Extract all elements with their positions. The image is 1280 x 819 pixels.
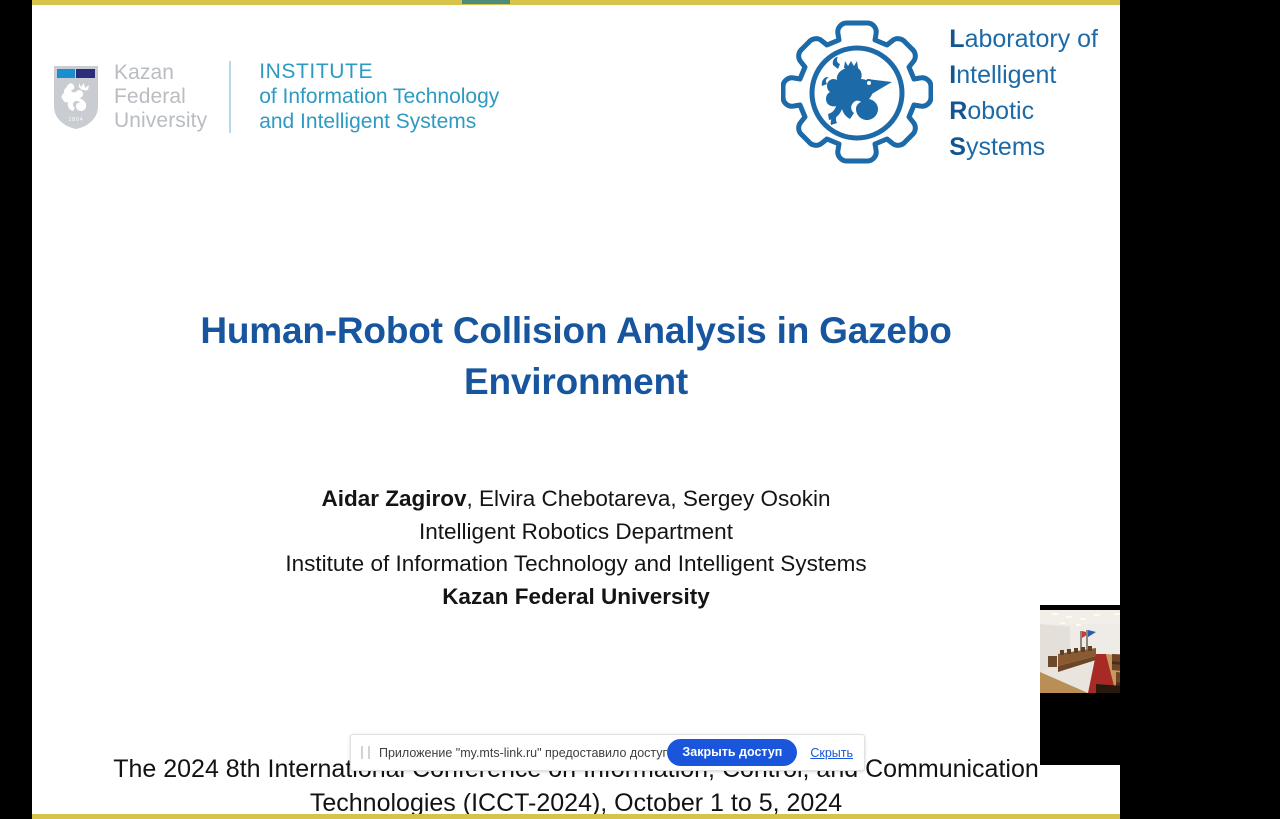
lirs-wordmark: Laboratory of Intelligent Robotic System…: [949, 21, 1098, 165]
itis-line-2: of Information Technology: [259, 85, 499, 108]
lirs-line-2: Intelligent: [949, 61, 1056, 89]
stop-sharing-button[interactable]: Закрыть доступ: [667, 739, 797, 766]
gear-dragon-icon: [781, 17, 933, 169]
screen-capture-border-bottom: [32, 814, 1120, 819]
lirs-line-4: Systems: [949, 133, 1045, 161]
svg-text:1804: 1804: [68, 117, 83, 123]
screen-share-notification-bar[interactable]: Приложение "my.mts-link.ru" предоставило…: [350, 734, 865, 771]
conference-hall-video-frame: [1040, 610, 1120, 693]
logo-divider: [229, 61, 231, 133]
slide-title-line-2: Environment: [102, 356, 1050, 407]
lead-author-name: Aidar Zagirov: [322, 486, 467, 511]
kazan-federal-university-logo: 1804 Kazan Federal University INSTITUTE …: [52, 60, 499, 134]
hide-notification-link[interactable]: Скрыть: [810, 746, 853, 760]
lirs-line-4-initial: S: [949, 133, 966, 161]
kfu-shield-icon: 1804: [52, 63, 100, 131]
itis-wordmark: INSTITUTE of Information Technology and …: [259, 60, 499, 134]
lirs-logo: Laboratory of Intelligent Robotic System…: [781, 17, 1098, 169]
lirs-line-4-rest: ystems: [966, 133, 1045, 161]
author-institute: Institute of Information Technology and …: [72, 548, 1080, 581]
slide-title: Human-Robot Collision Analysis in Gazebo…: [102, 305, 1050, 407]
conference-line-2: Technologies (ICCT-2024), October 1 to 5…: [62, 787, 1090, 815]
screen-share-toolbar-pill[interactable]: [462, 0, 510, 4]
itis-line-3: and Intelligent Systems: [259, 110, 476, 133]
slide-title-line-1: Human-Robot Collision Analysis in Gazebo: [102, 305, 1050, 356]
lirs-line-3-initial: R: [949, 97, 967, 125]
drag-handle-icon[interactable]: [361, 746, 370, 759]
kfu-word-line-3: University: [114, 109, 207, 132]
lirs-line-2-rest: ntelligent: [956, 61, 1056, 89]
screen-capture-border-top: [32, 0, 1120, 5]
kfu-wordmark: Kazan Federal University: [114, 61, 207, 134]
lirs-line-3-rest: obotic: [967, 97, 1034, 125]
author-department: Intelligent Robotics Department: [72, 516, 1080, 549]
screen-share-root: 1804 Kazan Federal University INSTITUTE …: [0, 0, 1280, 819]
share-notification-message: Приложение "my.mts-link.ru" предоставило…: [379, 746, 667, 760]
author-block: Aidar Zagirov, Elvira Chebotareva, Serge…: [72, 483, 1080, 614]
coauthor-names: , Elvira Chebotareva, Sergey Osokin: [467, 486, 831, 511]
itis-line-1: INSTITUTE: [259, 60, 373, 83]
participant-video-thumbnail[interactable]: [1040, 605, 1120, 765]
kfu-word-line-1: Kazan: [114, 61, 174, 84]
lirs-line-1-initial: L: [949, 25, 964, 53]
author-university: Kazan Federal University: [72, 581, 1080, 614]
lirs-line-3: Robotic: [949, 97, 1034, 125]
lirs-line-1: Laboratory of: [949, 25, 1098, 53]
letterbox-left: [0, 0, 32, 819]
lirs-line-1-rest: aboratory of: [965, 25, 1098, 53]
kfu-word-line-2: Federal: [114, 85, 186, 108]
author-names-line: Aidar Zagirov, Elvira Chebotareva, Serge…: [72, 483, 1080, 516]
letterbox-right: [1120, 0, 1280, 819]
slide-logo-header: 1804 Kazan Federal University INSTITUTE …: [32, 5, 1120, 195]
presentation-slide: 1804 Kazan Federal University INSTITUTE …: [32, 5, 1120, 814]
